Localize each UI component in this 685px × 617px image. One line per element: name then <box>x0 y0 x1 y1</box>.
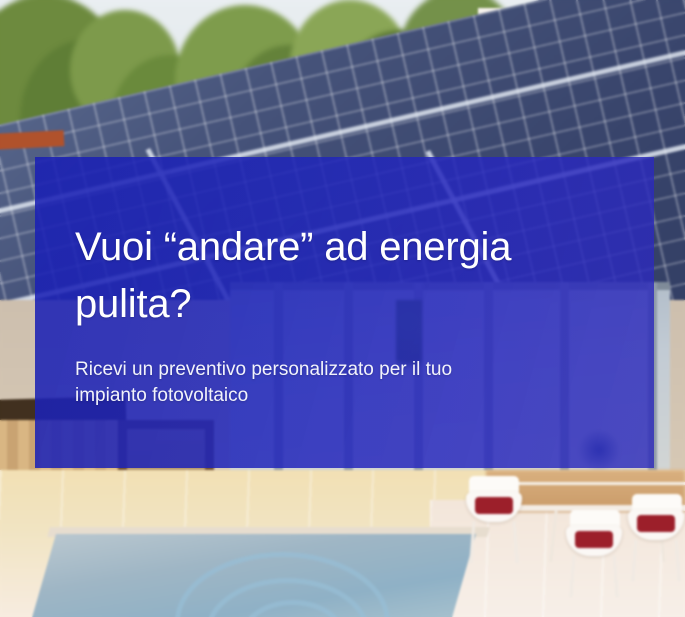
chair-cushion <box>637 515 675 532</box>
hero-banner: Vuoi “andare” ad energia pulita? Ricevi … <box>0 0 685 617</box>
chair-legs <box>569 556 619 598</box>
chair-cushion <box>475 497 513 514</box>
hero-text-overlay: Vuoi “andare” ad energia pulita? Ricevi … <box>35 157 654 468</box>
hero-subheadline: Ricevi un preventivo personalizzato per … <box>75 357 614 409</box>
chair-legs <box>631 540 681 582</box>
chair-cushion <box>575 531 613 548</box>
chair-legs <box>469 522 519 564</box>
hero-headline: Vuoi “andare” ad energia pulita? <box>75 219 614 333</box>
